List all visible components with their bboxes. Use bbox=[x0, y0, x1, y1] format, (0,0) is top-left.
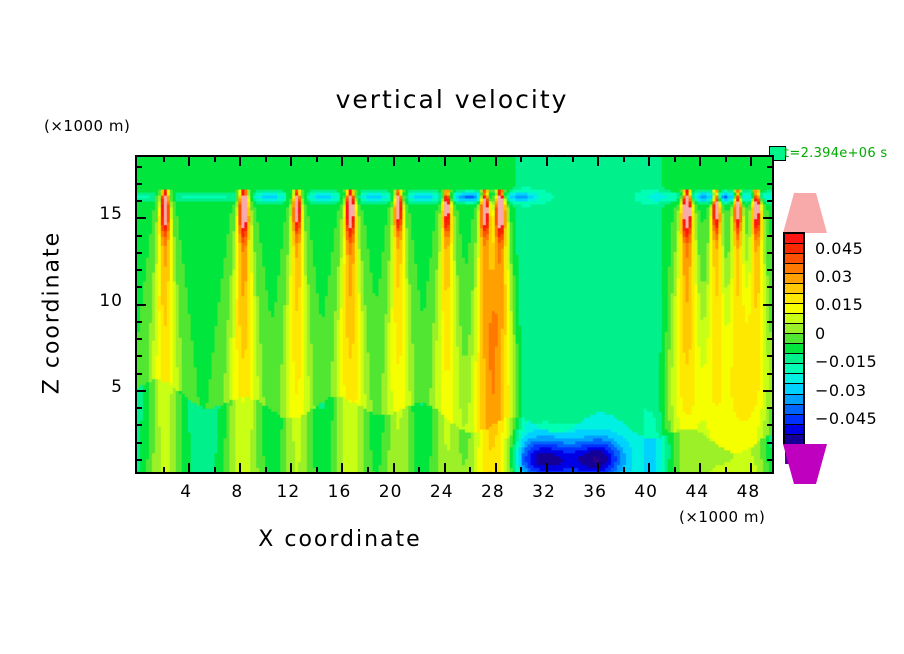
x-tick-label: 36 bbox=[573, 482, 617, 502]
colorbar-band bbox=[785, 373, 803, 383]
colorbar-band bbox=[785, 424, 803, 434]
colorbar-band bbox=[785, 273, 803, 283]
colorbar-over-arrow bbox=[783, 193, 827, 233]
x-tick-label: 48 bbox=[726, 482, 770, 502]
colorbar-band bbox=[785, 263, 803, 273]
colorbar-label: 0.03 bbox=[815, 267, 853, 286]
colorbar-band bbox=[785, 383, 803, 393]
x-tick-label: 4 bbox=[164, 482, 208, 502]
colorbar-band bbox=[785, 343, 803, 353]
colorbar-label: 0 bbox=[815, 324, 826, 343]
x-tick-label: 12 bbox=[266, 482, 310, 502]
colorbar-band bbox=[785, 363, 803, 373]
colorbar-bands bbox=[783, 232, 805, 444]
colorbar-band bbox=[785, 293, 803, 303]
y-tick-label: 15 bbox=[79, 204, 123, 224]
colorbar-band bbox=[785, 394, 803, 404]
colorbar-label: 0.015 bbox=[815, 295, 863, 314]
contour-plot-frame bbox=[135, 155, 774, 474]
colorbar-band bbox=[785, 234, 803, 243]
colorbar bbox=[781, 193, 807, 485]
x-tick-label: 20 bbox=[369, 482, 413, 502]
x-tick-label: 16 bbox=[317, 482, 361, 502]
y-axis-title: Z coordinate bbox=[40, 183, 65, 443]
x-tick-label: 28 bbox=[471, 482, 515, 502]
x-tick-label: 44 bbox=[675, 482, 719, 502]
x-tick-label: 24 bbox=[420, 482, 464, 502]
colorbar-band bbox=[785, 243, 803, 253]
colorbar-band bbox=[785, 333, 803, 343]
simulation-time-label: t=2.394e+06 s bbox=[784, 146, 887, 161]
colorbar-label: 0.045 bbox=[815, 239, 863, 258]
colorbar-band bbox=[785, 414, 803, 424]
colorbar-band bbox=[785, 303, 803, 313]
colorbar-label: −0.015 bbox=[815, 352, 877, 371]
chart-title: vertical velocity bbox=[0, 85, 904, 114]
colorbar-band bbox=[785, 434, 803, 444]
colorbar-band bbox=[785, 323, 803, 333]
y-tick-label: 5 bbox=[79, 377, 123, 397]
x-tick-label: 32 bbox=[522, 482, 566, 502]
colorbar-band bbox=[785, 404, 803, 414]
x-axis-unit-label: (×1000 m) bbox=[679, 508, 765, 526]
colorbar-band bbox=[785, 313, 803, 323]
colorbar-label: −0.045 bbox=[815, 409, 877, 428]
y-tick-label: 10 bbox=[79, 291, 123, 311]
colorbar-band bbox=[785, 353, 803, 363]
colorbar-band bbox=[785, 283, 803, 293]
x-tick-label: 40 bbox=[624, 482, 668, 502]
x-axis-title: X coordinate bbox=[0, 527, 680, 552]
colorbar-band bbox=[785, 253, 803, 263]
x-tick-label: 8 bbox=[215, 482, 259, 502]
vertical-velocity-field bbox=[137, 157, 772, 472]
y-axis-unit-label: (×1000 m) bbox=[44, 117, 130, 135]
colorbar-under-arrow bbox=[783, 444, 827, 484]
colorbar-label: −0.03 bbox=[815, 381, 867, 400]
